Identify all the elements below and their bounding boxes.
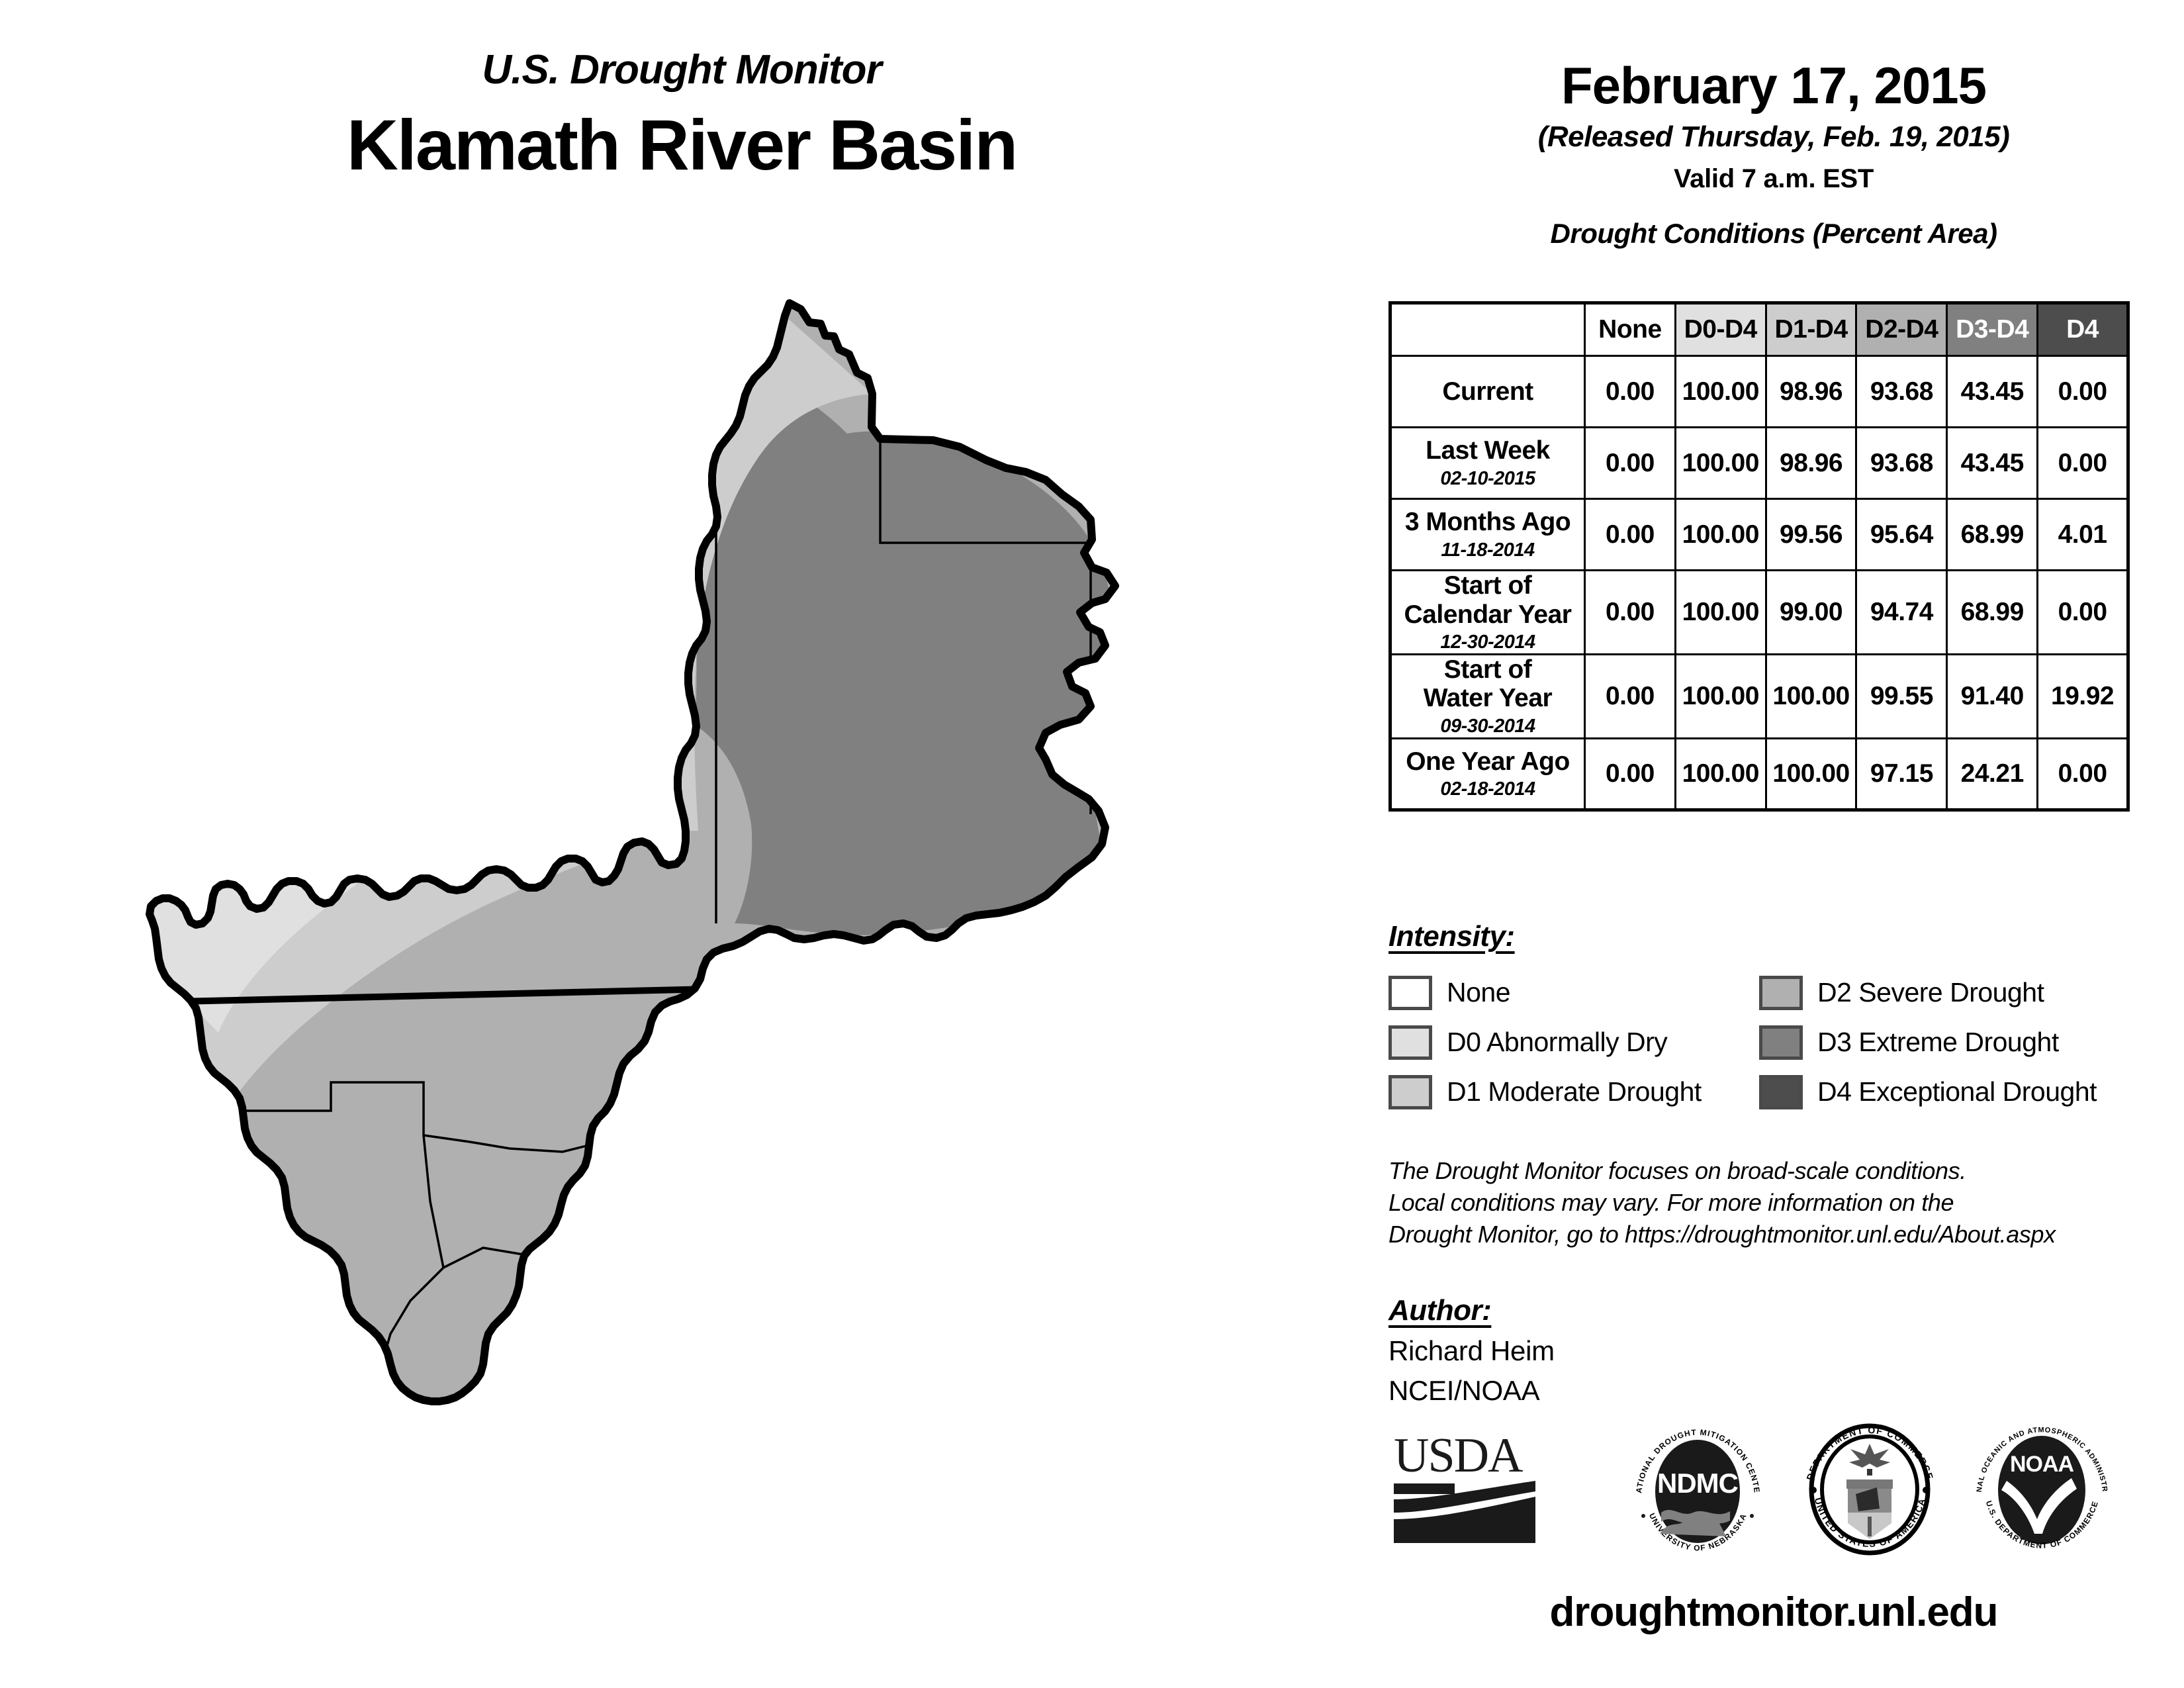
title-block: U.S. Drought Monitor Klamath River Basin: [218, 50, 1145, 185]
cell-oneyear-d3d4: 24.21: [1947, 738, 2038, 810]
swatch-d4-icon: [1759, 1075, 1803, 1109]
ndmc-logo-text: NDMC: [1657, 1468, 1739, 1499]
column-header-none[interactable]: None: [1585, 303, 1676, 356]
row-label-start-water-year: Start of Water Year 09-30-2014: [1390, 654, 1585, 738]
page-title: Klamath River Basin: [218, 105, 1145, 185]
cell-current-d2d4: 93.68: [1856, 356, 1947, 428]
legend-item-none[interactable]: None: [1388, 968, 1759, 1017]
cell-calyear-d4: 0.00: [2038, 571, 2128, 655]
table-header-row: None D0-D4 D1-D4 D2-D4 D3-D4 D4: [1390, 303, 2128, 356]
swatch-d1-icon: [1388, 1075, 1432, 1109]
cell-3months-none: 0.00: [1585, 499, 1676, 571]
cell-wateryear-d3d4: 91.40: [1947, 654, 2038, 738]
cell-oneyear-d1d4: 100.00: [1766, 738, 1856, 810]
row-label-text: 3 Months Ago: [1405, 508, 1570, 536]
cell-wateryear-d1d4: 100.00: [1766, 654, 1856, 738]
cell-lastweek-d4: 0.00: [2038, 428, 2128, 499]
usda-logo: USDA: [1388, 1420, 1541, 1552]
column-header-d0-d4[interactable]: D0-D4: [1675, 303, 1766, 356]
legend-item-d2[interactable]: D2 Severe Drought: [1759, 968, 2156, 1017]
cell-lastweek-d2d4: 93.68: [1856, 428, 1947, 499]
swatch-d0-icon: [1388, 1025, 1432, 1060]
cell-calyear-d1d4: 99.00: [1766, 571, 1856, 655]
intensity-heading: Intensity:: [1388, 920, 2156, 953]
table-row: Start of Calendar Year 12-30-2014 0.00 1…: [1390, 571, 2128, 655]
row-label-date: 12-30-2014: [1392, 632, 1584, 653]
table-row: One Year Ago 02-18-2014 0.00 100.00 100.…: [1390, 738, 2128, 810]
cell-wateryear-d2d4: 99.55: [1856, 654, 1947, 738]
column-header-d1-d4[interactable]: D1-D4: [1766, 303, 1856, 356]
legend-label-d1: D1 Moderate Drought: [1447, 1076, 1702, 1107]
row-label-text: One Year Ago: [1406, 747, 1570, 776]
row-label-text: Start of Calendar Year: [1404, 571, 1572, 629]
author-name: Richard Heim: [1388, 1335, 1555, 1367]
program-title: U.S. Drought Monitor: [218, 50, 1145, 91]
cell-3months-d4: 4.01: [2038, 499, 2128, 571]
swatch-d3-icon: [1759, 1025, 1803, 1060]
author-affiliation: NCEI/NOAA: [1388, 1375, 1555, 1407]
cell-oneyear-d2d4: 97.15: [1856, 738, 1947, 810]
table-row: Last Week 02-10-2015 0.00 100.00 98.96 9…: [1390, 428, 2128, 499]
row-label-date: 02-10-2015: [1392, 468, 1584, 489]
column-header-d2-d4[interactable]: D2-D4: [1856, 303, 1947, 356]
right-panel: February 17, 2015 (Released Thursday, Fe…: [1377, 0, 2171, 1688]
table-title: Drought Conditions (Percent Area): [1377, 218, 2171, 250]
row-label-text: Last Week: [1426, 436, 1550, 465]
legend-label-d3: D3 Extreme Drought: [1817, 1027, 2059, 1058]
usda-logo-text: USDA: [1394, 1429, 1523, 1483]
cell-oneyear-d4: 0.00: [2038, 738, 2128, 810]
row-label-text: Current: [1442, 377, 1533, 406]
cell-current-d0d4: 100.00: [1675, 356, 1766, 428]
cell-current-d1d4: 98.96: [1766, 356, 1856, 428]
valid-time: Valid 7 a.m. EST: [1377, 164, 2171, 194]
cell-oneyear-none: 0.00: [1585, 738, 1676, 810]
row-label-date: 09-30-2014: [1392, 716, 1584, 737]
cell-calyear-d3d4: 68.99: [1947, 571, 2038, 655]
drought-map[interactable]: [99, 261, 1304, 1499]
table-row: 3 Months Ago 11-18-2014 0.00 100.00 99.5…: [1390, 499, 2128, 571]
logo-row: USDA NATIONAL DROUGHT MITIGATION CENTER …: [1388, 1420, 2156, 1572]
klamath-basin-map-svg[interactable]: [99, 261, 1304, 1499]
row-label-date: 02-18-2014: [1392, 778, 1584, 800]
noaa-logo: NATIONAL OCEANIC AND ATMOSPHERIC ADMINIS…: [1971, 1420, 2113, 1559]
d3-extreme-region: [695, 381, 1111, 935]
intensity-legend: Intensity: None D2 Severe Drought D0 Abn…: [1388, 920, 2156, 1117]
row-label-text: Start of Water Year: [1424, 655, 1552, 713]
cell-wateryear-none: 0.00: [1585, 654, 1676, 738]
cell-current-d4: 0.00: [2038, 356, 2128, 428]
cell-wateryear-d0d4: 100.00: [1675, 654, 1766, 738]
cell-lastweek-none: 0.00: [1585, 428, 1676, 499]
row-label-current: Current: [1390, 356, 1585, 428]
ndmc-logo: NATIONAL DROUGHT MITIGATION CENTER UNIVE…: [1627, 1420, 1769, 1559]
cell-wateryear-d4: 19.92: [2038, 654, 2128, 738]
column-header-d3-d4[interactable]: D3-D4: [1947, 303, 2038, 356]
disclaimer-line-3: Drought Monitor, go to https://droughtmo…: [1388, 1219, 2156, 1250]
legend-label-none: None: [1447, 977, 1510, 1008]
row-label-last-week: Last Week 02-10-2015: [1390, 428, 1585, 499]
cell-lastweek-d3d4: 43.45: [1947, 428, 2038, 499]
legend-label-d4: D4 Exceptional Drought: [1817, 1076, 2097, 1107]
cell-3months-d0d4: 100.00: [1675, 499, 1766, 571]
footer-url[interactable]: droughtmonitor.unl.edu: [1377, 1589, 2171, 1636]
column-header-d4[interactable]: D4: [2038, 303, 2128, 356]
table-row: Start of Water Year 09-30-2014 0.00 100.…: [1390, 654, 2128, 738]
author-block: Author: Richard Heim NCEI/NOAA: [1388, 1294, 1555, 1407]
legend-item-d4[interactable]: D4 Exceptional Drought: [1759, 1067, 2156, 1117]
row-label-date: 11-18-2014: [1392, 539, 1584, 561]
legend-item-d0[interactable]: D0 Abnormally Dry: [1388, 1017, 1759, 1067]
cell-3months-d3d4: 68.99: [1947, 499, 2038, 571]
table-row: Current 0.00 100.00 98.96 93.68 43.45 0.…: [1390, 356, 2128, 428]
cell-oneyear-d0d4: 100.00: [1675, 738, 1766, 810]
cell-current-d3d4: 43.45: [1947, 356, 2038, 428]
cell-3months-d2d4: 95.64: [1856, 499, 1947, 571]
release-note: (Released Thursday, Feb. 19, 2015): [1377, 120, 2171, 154]
cell-3months-d1d4: 99.56: [1766, 499, 1856, 571]
row-label-one-year-ago: One Year Ago 02-18-2014: [1390, 738, 1585, 810]
cell-calyear-d2d4: 94.74: [1856, 571, 1947, 655]
swatch-d2-icon: [1759, 976, 1803, 1010]
row-label-start-calendar-year: Start of Calendar Year 12-30-2014: [1390, 571, 1585, 655]
noaa-logo-text: NOAA: [2010, 1452, 2074, 1477]
legend-label-d2: D2 Severe Drought: [1817, 977, 2044, 1008]
disclaimer-text: The Drought Monitor focuses on broad-sca…: [1388, 1155, 2156, 1251]
issue-date: February 17, 2015: [1377, 60, 2171, 111]
row-label-3-months-ago: 3 Months Ago 11-18-2014: [1390, 499, 1585, 571]
legend-item-d1[interactable]: D1 Moderate Drought: [1388, 1067, 1759, 1117]
author-heading: Author:: [1388, 1294, 1555, 1327]
cell-calyear-d0d4: 100.00: [1675, 571, 1766, 655]
cell-current-none: 0.00: [1585, 356, 1676, 428]
legend-item-d3[interactable]: D3 Extreme Drought: [1759, 1017, 2156, 1067]
doc-seal-logo: DEPARTMENT OF COMMERCE UNITED STATES OF …: [1799, 1420, 1941, 1559]
cell-lastweek-d0d4: 100.00: [1675, 428, 1766, 499]
date-block: February 17, 2015 (Released Thursday, Fe…: [1377, 0, 2171, 194]
disclaimer-line-1: The Drought Monitor focuses on broad-sca…: [1388, 1155, 2156, 1187]
swatch-none-icon: [1388, 976, 1432, 1010]
drought-conditions-table[interactable]: None D0-D4 D1-D4 D2-D4 D3-D4 D4 Current …: [1388, 301, 2130, 812]
disclaimer-line-2: Local conditions may vary. For more info…: [1388, 1187, 2156, 1219]
cell-lastweek-d1d4: 98.96: [1766, 428, 1856, 499]
legend-label-d0: D0 Abnormally Dry: [1447, 1027, 1667, 1058]
header-blank-corner: [1390, 303, 1585, 356]
cell-calyear-none: 0.00: [1585, 571, 1676, 655]
